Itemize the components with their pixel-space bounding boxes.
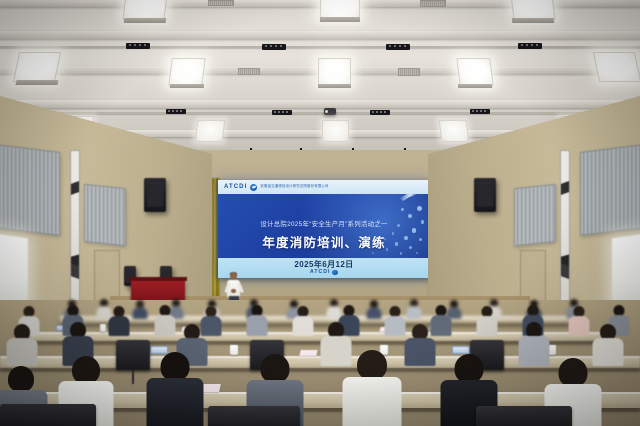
slide-footer-band: 2025年6月12日 ATCDI [218, 258, 430, 278]
spotlight-icon [470, 109, 490, 114]
ceiling-panel-light-side [458, 84, 492, 88]
ceiling-panel-light-side [15, 80, 58, 85]
spotlight-icon [166, 109, 186, 114]
audience-member [384, 306, 406, 334]
lighting-track [0, 112, 640, 114]
slide-title: 年度消防培训、演练 [218, 232, 430, 251]
spotlight-icon [386, 44, 410, 50]
ceiling-panel-light [593, 52, 640, 82]
person-torso [569, 316, 590, 336]
brand-company-name: 安徽省交通规划设计研究总院股份有限公司 [260, 185, 328, 188]
audience-member [246, 305, 268, 334]
audience-member [404, 324, 436, 364]
brand-logo: ATCDI [224, 184, 247, 190]
acoustic-panel [84, 184, 126, 246]
paper-cup [100, 324, 106, 332]
conference-hall-photo: ATCDI 安徽省交通规划设计研究总院股份有限公司 设计总院2025年“安全生产… [0, 0, 640, 426]
person-torso [477, 316, 498, 336]
person-head [261, 354, 290, 383]
ceiling-panel-light [439, 120, 470, 142]
ceiling-beam [0, 100, 640, 108]
presenter-hands [231, 289, 236, 293]
ceiling-panel-light-side [124, 18, 167, 23]
audience-member [406, 299, 422, 318]
person-torso [405, 338, 436, 366]
spotlight-icon [126, 43, 150, 49]
chair-leg [132, 370, 134, 384]
person-head [455, 354, 484, 383]
ceiling-panel-light-side [318, 84, 351, 88]
ceiling-projector [324, 108, 336, 115]
person-head [72, 356, 100, 384]
slide-subtitle: 设计总院2025年“安全生产月”系列活动之一 [218, 219, 430, 228]
office-chair [208, 406, 300, 426]
ceiling-panel-light [318, 58, 351, 86]
person-head [357, 350, 387, 380]
projection-screen: ATCDI 安徽省交通规划设计研究总院股份有限公司 设计总院2025年“安全生产… [218, 180, 430, 278]
acoustic-panel [514, 184, 556, 246]
audience-member [108, 306, 130, 334]
brand-mark-icon [332, 270, 338, 276]
person-torso [343, 377, 402, 426]
air-vent-icon [238, 68, 260, 75]
projector-lens-icon [325, 110, 328, 113]
ceiling-panel-light [195, 120, 226, 142]
brand-logo: ATCDI [310, 269, 330, 275]
wall-loudspeaker [144, 178, 166, 212]
person-torso [247, 315, 268, 336]
lighting-track [0, 46, 640, 48]
person-torso [367, 307, 382, 319]
audience-member [366, 300, 382, 318]
air-vent-icon [398, 68, 420, 76]
air-vent-icon [420, 0, 446, 7]
person-head [559, 358, 588, 387]
spotlight-icon [518, 43, 542, 49]
person-torso [385, 316, 406, 336]
spotlight-icon [272, 110, 292, 115]
ceiling-panel-light [13, 52, 61, 82]
wall-loudspeaker [474, 178, 496, 212]
ceiling-panel-light [510, 0, 555, 20]
brand-mark-icon [250, 184, 257, 191]
person-head [8, 366, 34, 392]
window [612, 234, 640, 311]
presentation-slide: ATCDI 安徽省交通规划设计研究总院股份有限公司 设计总院2025年“安全生产… [218, 180, 430, 278]
ceiling-panel-light-side [512, 18, 555, 23]
audience-member [568, 306, 590, 334]
office-chair [476, 406, 572, 426]
office-chair [116, 340, 150, 370]
ceiling-panel-light-side [320, 17, 360, 22]
person-torso [293, 316, 314, 336]
podium-top [129, 277, 187, 281]
slide-date: 2025年6月12日 [294, 261, 353, 270]
paper-cup [230, 345, 238, 355]
audience-member [146, 352, 204, 426]
person-torso [155, 315, 176, 336]
person-torso [7, 338, 38, 366]
office-chair [0, 404, 96, 426]
spotlight-icon [262, 44, 286, 50]
acoustic-panel [580, 144, 640, 236]
ceiling-panel-light [456, 58, 493, 86]
name-placard [452, 346, 470, 354]
person-torso [407, 306, 422, 319]
audience-member [132, 300, 148, 318]
person-torso [109, 316, 130, 336]
slide-footer-logo: ATCDI [310, 269, 338, 275]
slide-body: 设计总院2025年“安全生产月”系列活动之一 年度消防培训、演练 [218, 194, 430, 258]
audience-member [342, 350, 402, 426]
ceiling-panel-light [122, 0, 167, 20]
person-head [161, 352, 190, 381]
spotlight-icon [370, 110, 390, 115]
ceiling-panel-light [322, 120, 349, 142]
audience-member [476, 306, 498, 334]
acoustic-panel [0, 144, 60, 236]
person-torso [147, 378, 204, 426]
presenter-head [230, 272, 237, 280]
ceiling-panel-light-side [170, 84, 204, 88]
audience-member [292, 306, 314, 334]
ceiling-panel-light [168, 58, 205, 86]
person-torso [133, 307, 148, 319]
window [0, 234, 28, 311]
audience-member [6, 324, 38, 364]
slide-header-band: ATCDI 安徽省交通规划设计研究总院股份有限公司 [218, 180, 430, 194]
ceiling-beam [0, 31, 640, 39]
audience-member [154, 305, 176, 334]
air-vent-icon [208, 0, 234, 6]
